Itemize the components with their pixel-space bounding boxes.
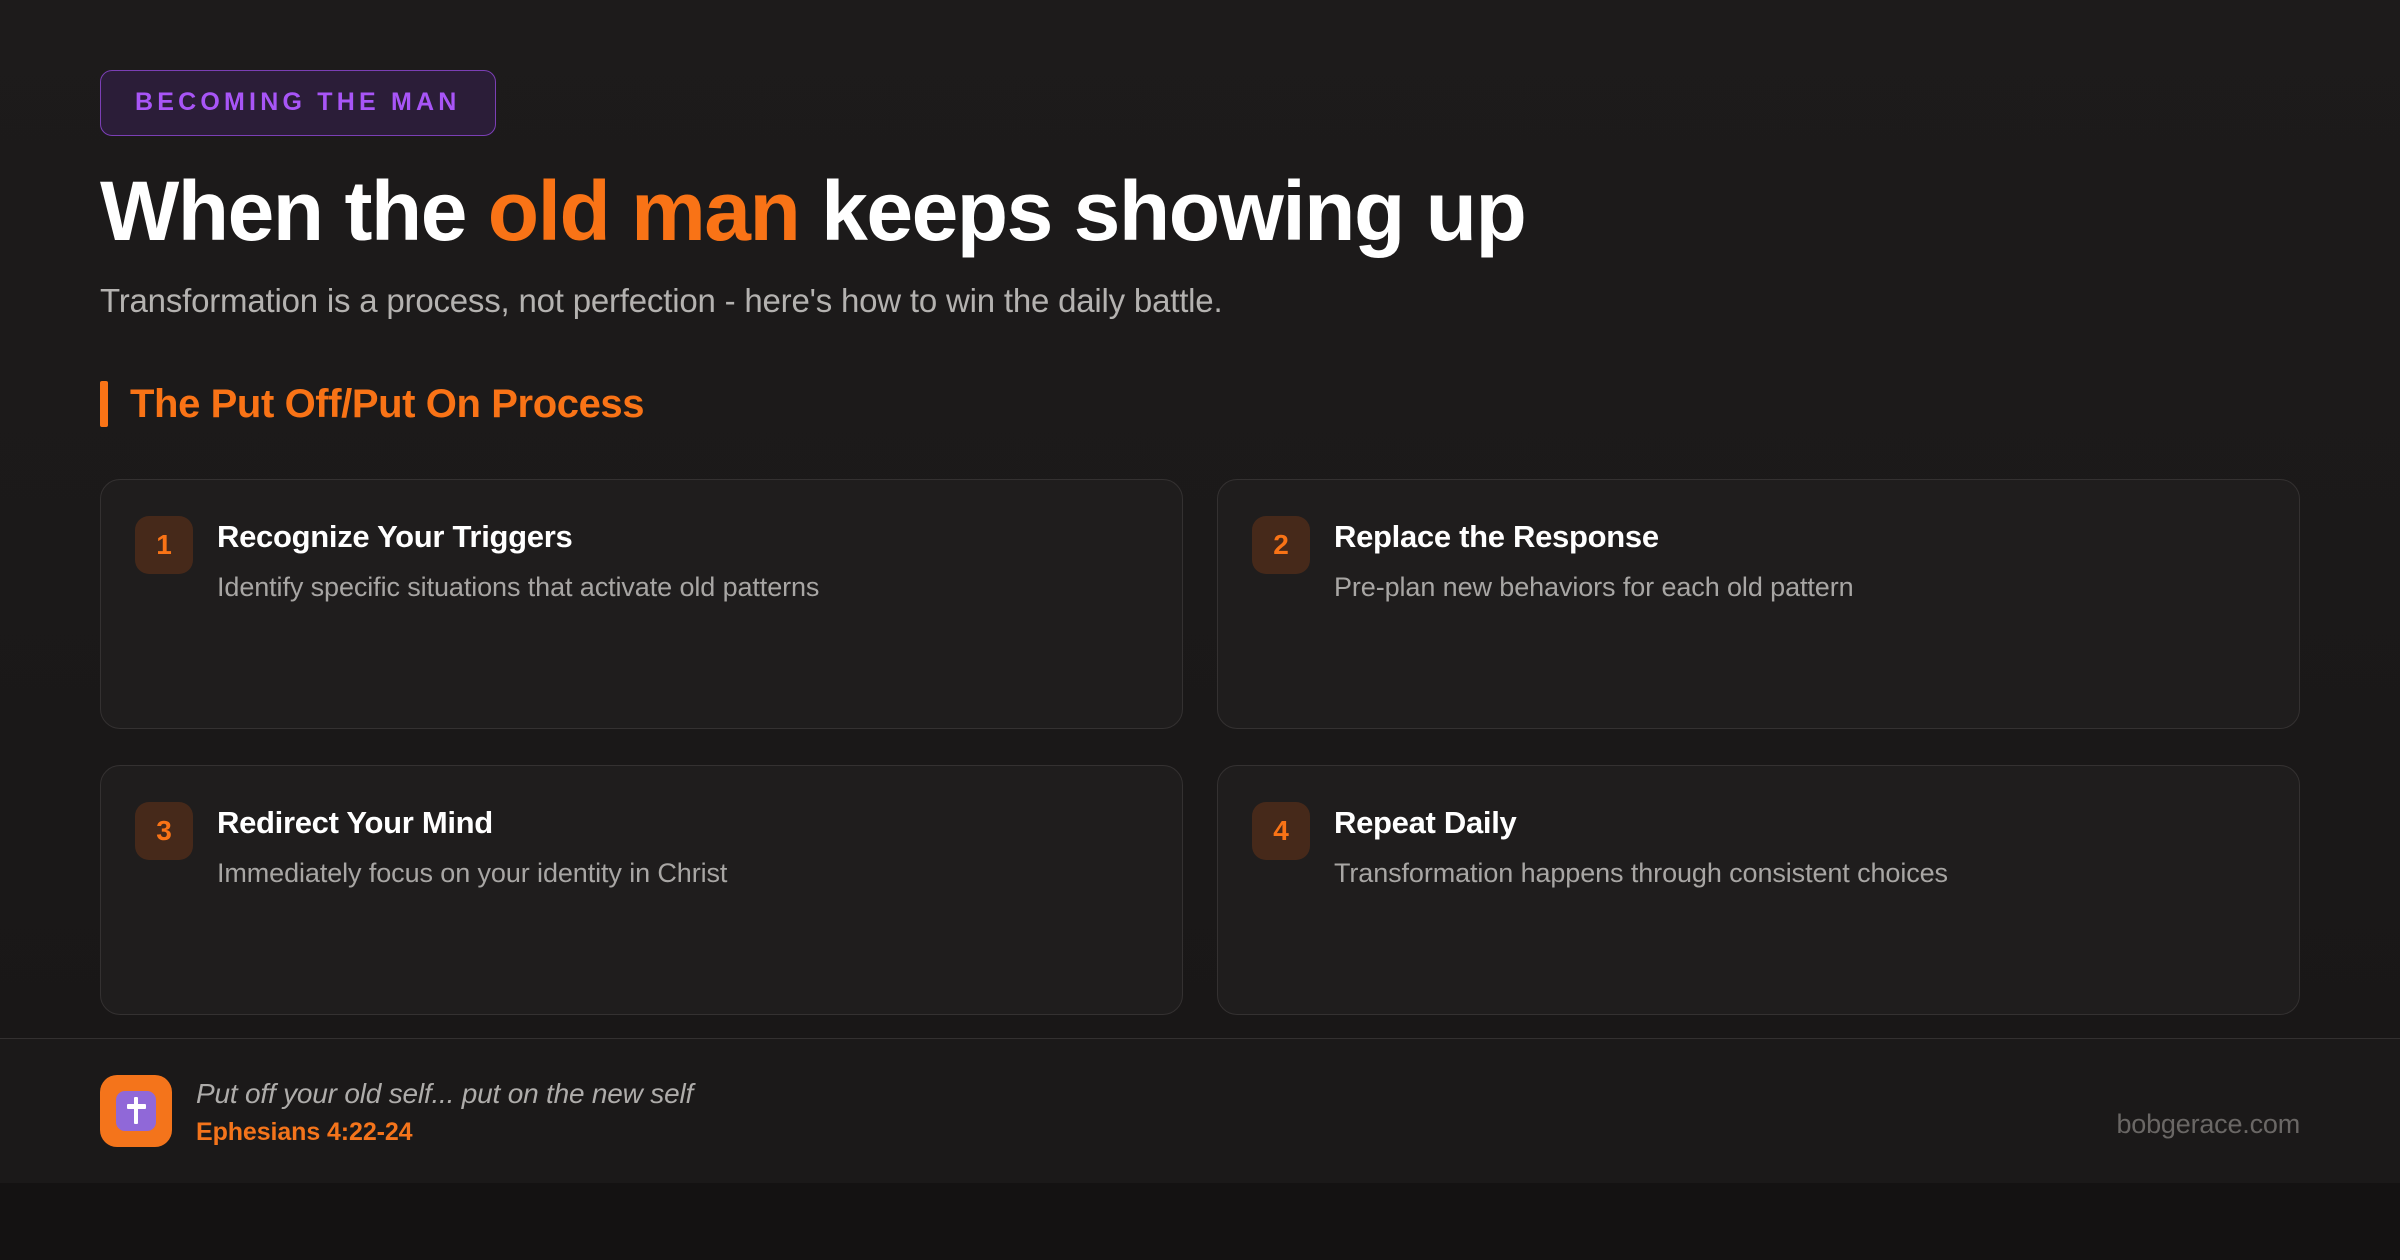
site-url: bobgerace.com bbox=[2116, 1083, 2300, 1140]
process-card-grid: 1 Recognize Your Triggers Identify speci… bbox=[100, 479, 2300, 1015]
card-title: Recognize Your Triggers bbox=[217, 518, 819, 555]
card-description: Transformation happens through consisten… bbox=[1334, 855, 1948, 891]
section-title: The Put Off/Put On Process bbox=[130, 384, 644, 424]
section-accent-bar bbox=[100, 381, 108, 427]
process-card[interactable]: 1 Recognize Your Triggers Identify speci… bbox=[100, 479, 1183, 729]
card-title: Redirect Your Mind bbox=[217, 804, 727, 841]
process-card[interactable]: 2 Replace the Response Pre-plan new beha… bbox=[1217, 479, 2300, 729]
headline-accent: old man bbox=[488, 164, 800, 258]
footer-bar: Put off your old self... put on the new … bbox=[0, 1038, 2400, 1183]
card-head: 2 Replace the Response Pre-plan new beha… bbox=[1252, 516, 2261, 606]
slide-stage: BECOMING THE MAN When the old man keeps … bbox=[0, 0, 2400, 1260]
scripture-block: Put off your old self... put on the new … bbox=[100, 1075, 693, 1147]
card-title: Replace the Response bbox=[1334, 518, 1854, 555]
card-title: Repeat Daily bbox=[1334, 804, 1948, 841]
step-number-badge: 4 bbox=[1252, 802, 1310, 860]
headline-part-2: keeps showing up bbox=[799, 164, 1525, 258]
footer-underbar bbox=[0, 1183, 2400, 1260]
step-number-badge: 1 bbox=[135, 516, 193, 574]
card-head: 4 Repeat Daily Transformation happens th… bbox=[1252, 802, 2261, 892]
card-body: Redirect Your Mind Immediately focus on … bbox=[217, 802, 727, 892]
card-description: Pre-plan new behaviors for each old patt… bbox=[1334, 569, 1854, 605]
eyebrow-badge: BECOMING THE MAN bbox=[100, 70, 496, 136]
process-card[interactable]: 4 Repeat Daily Transformation happens th… bbox=[1217, 765, 2300, 1015]
slide-content: BECOMING THE MAN When the old man keeps … bbox=[0, 0, 2400, 1015]
page-title: When the old man keeps showing up bbox=[100, 166, 2300, 257]
section-heading: The Put Off/Put On Process bbox=[100, 381, 2300, 427]
card-body: Replace the Response Pre-plan new behavi… bbox=[1334, 516, 1854, 606]
card-head: 1 Recognize Your Triggers Identify speci… bbox=[135, 516, 1144, 606]
card-description: Immediately focus on your identity in Ch… bbox=[217, 855, 727, 891]
card-body: Recognize Your Triggers Identify specifi… bbox=[217, 516, 819, 606]
cross-icon-glyph bbox=[116, 1091, 156, 1131]
card-description: Identify specific situations that activa… bbox=[217, 569, 819, 605]
headline-part-1: When the bbox=[100, 164, 488, 258]
process-card[interactable]: 3 Redirect Your Mind Immediately focus o… bbox=[100, 765, 1183, 1015]
scripture-text-group: Put off your old self... put on the new … bbox=[196, 1076, 693, 1147]
verse-reference: Ephesians 4:22-24 bbox=[196, 1117, 693, 1147]
card-body: Repeat Daily Transformation happens thro… bbox=[1334, 802, 1948, 892]
page-subtitle: Transformation is a process, not perfect… bbox=[100, 279, 2300, 324]
card-head: 3 Redirect Your Mind Immediately focus o… bbox=[135, 802, 1144, 892]
step-number-badge: 3 bbox=[135, 802, 193, 860]
verse-text: Put off your old self... put on the new … bbox=[196, 1076, 693, 1111]
step-number-badge: 2 bbox=[1252, 516, 1310, 574]
cross-icon bbox=[100, 1075, 172, 1147]
